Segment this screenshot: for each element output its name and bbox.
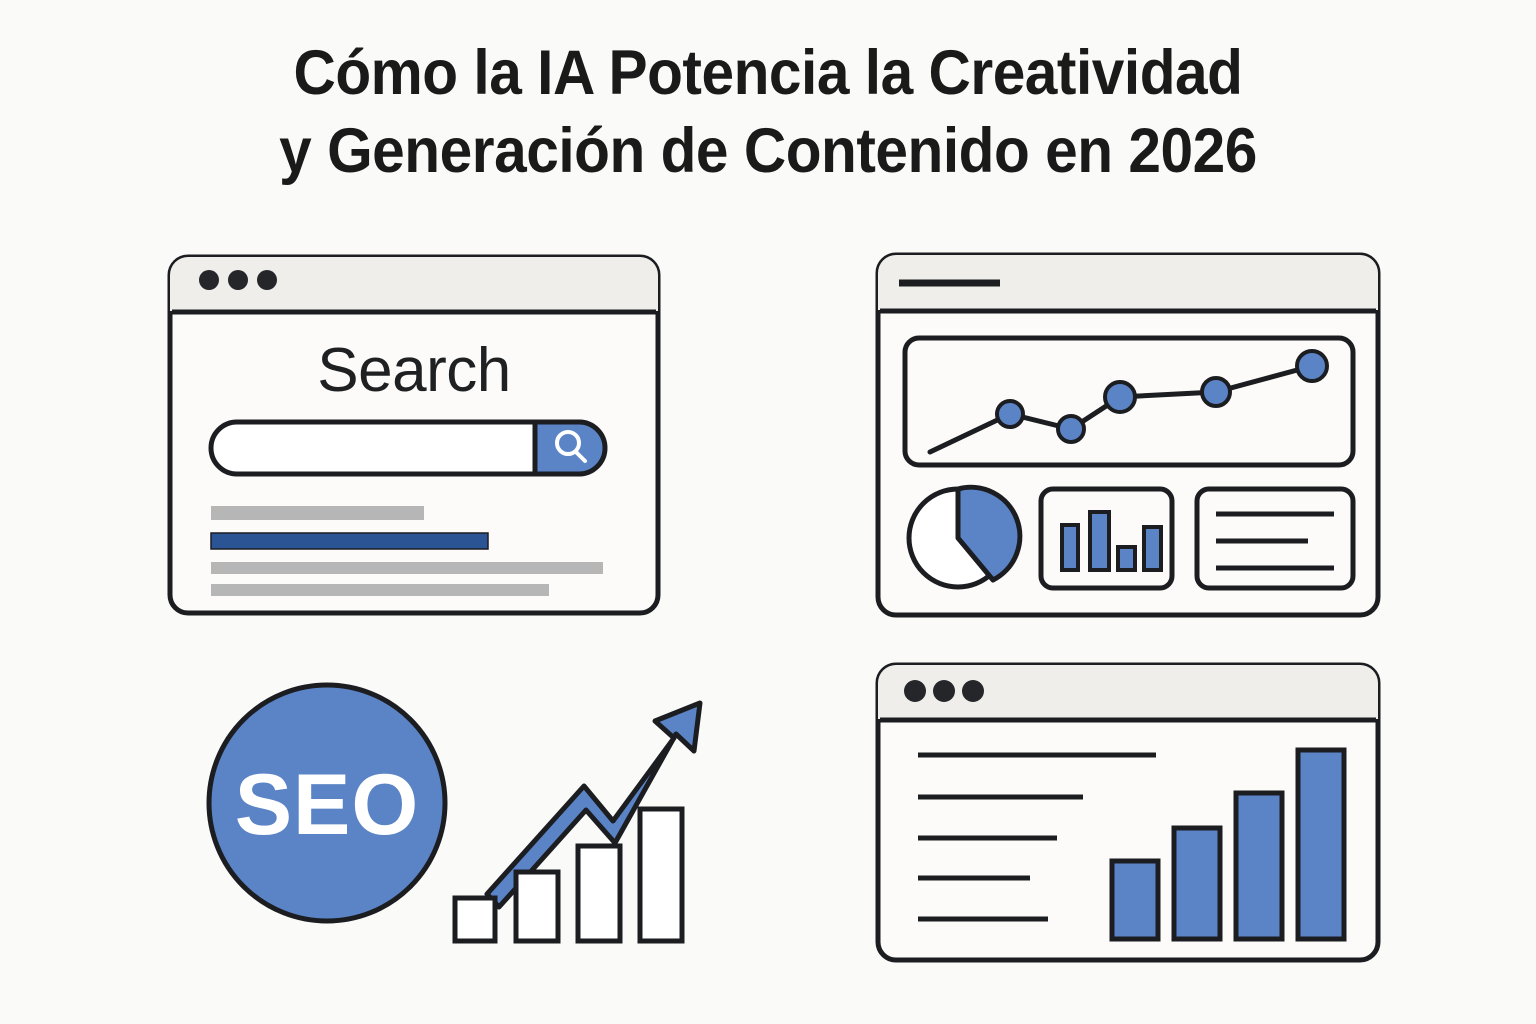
illustration-canvas: Cómo la IA Potencia la Creatividad y Gen… [0,0,1536,1024]
line-chart-point [1058,416,1084,442]
result-bar-1 [211,506,424,520]
search-heading: Search [317,336,510,405]
seo-badge-label: SEO [235,757,420,853]
content-bar-1 [1112,861,1158,939]
search-input-group[interactable] [211,422,605,474]
seo-bar-3 [578,846,620,941]
result-bar-3 [211,562,603,574]
result-bar-2-highlight [211,533,488,549]
window-dot-maximize-icon[interactable] [257,270,277,290]
window-dot-close-icon[interactable] [904,680,926,702]
bar-chart-bar [1144,527,1161,570]
content-bar-2 [1174,828,1220,939]
pie-chart-card[interactable] [909,487,1020,587]
content-report-window[interactable] [878,665,1378,960]
bar-chart-bar [1118,547,1135,570]
window-dot-close-icon[interactable] [199,270,219,290]
search-browser-window[interactable]: Search [170,257,658,613]
window-dot-minimize-icon[interactable] [933,680,955,702]
bar-chart-bar [1090,512,1109,570]
text-lines-card[interactable] [1197,489,1353,588]
seo-bar-2 [516,872,558,941]
analytics-dashboard-window[interactable] [878,255,1378,615]
seo-bar-4 [640,809,682,941]
window-dot-minimize-icon[interactable] [228,270,248,290]
seo-growth-illustration: SEO [209,685,700,941]
window-dot-maximize-icon[interactable] [962,680,984,702]
line-chart-point [1297,351,1327,381]
bar-chart-bar [1062,525,1078,570]
line-chart-point [1105,382,1135,412]
result-bar-4 [211,584,549,596]
content-bar-4 [1298,750,1344,939]
bar-chart-card[interactable] [1041,489,1172,588]
line-chart-point [997,401,1023,427]
search-submit-button[interactable] [535,422,605,474]
illustration-artwork: Search [0,0,1536,1024]
line-chart-card[interactable] [905,338,1353,465]
line-chart-point [1202,378,1230,406]
content-bar-3 [1236,793,1282,939]
seo-bar-1 [455,898,495,941]
